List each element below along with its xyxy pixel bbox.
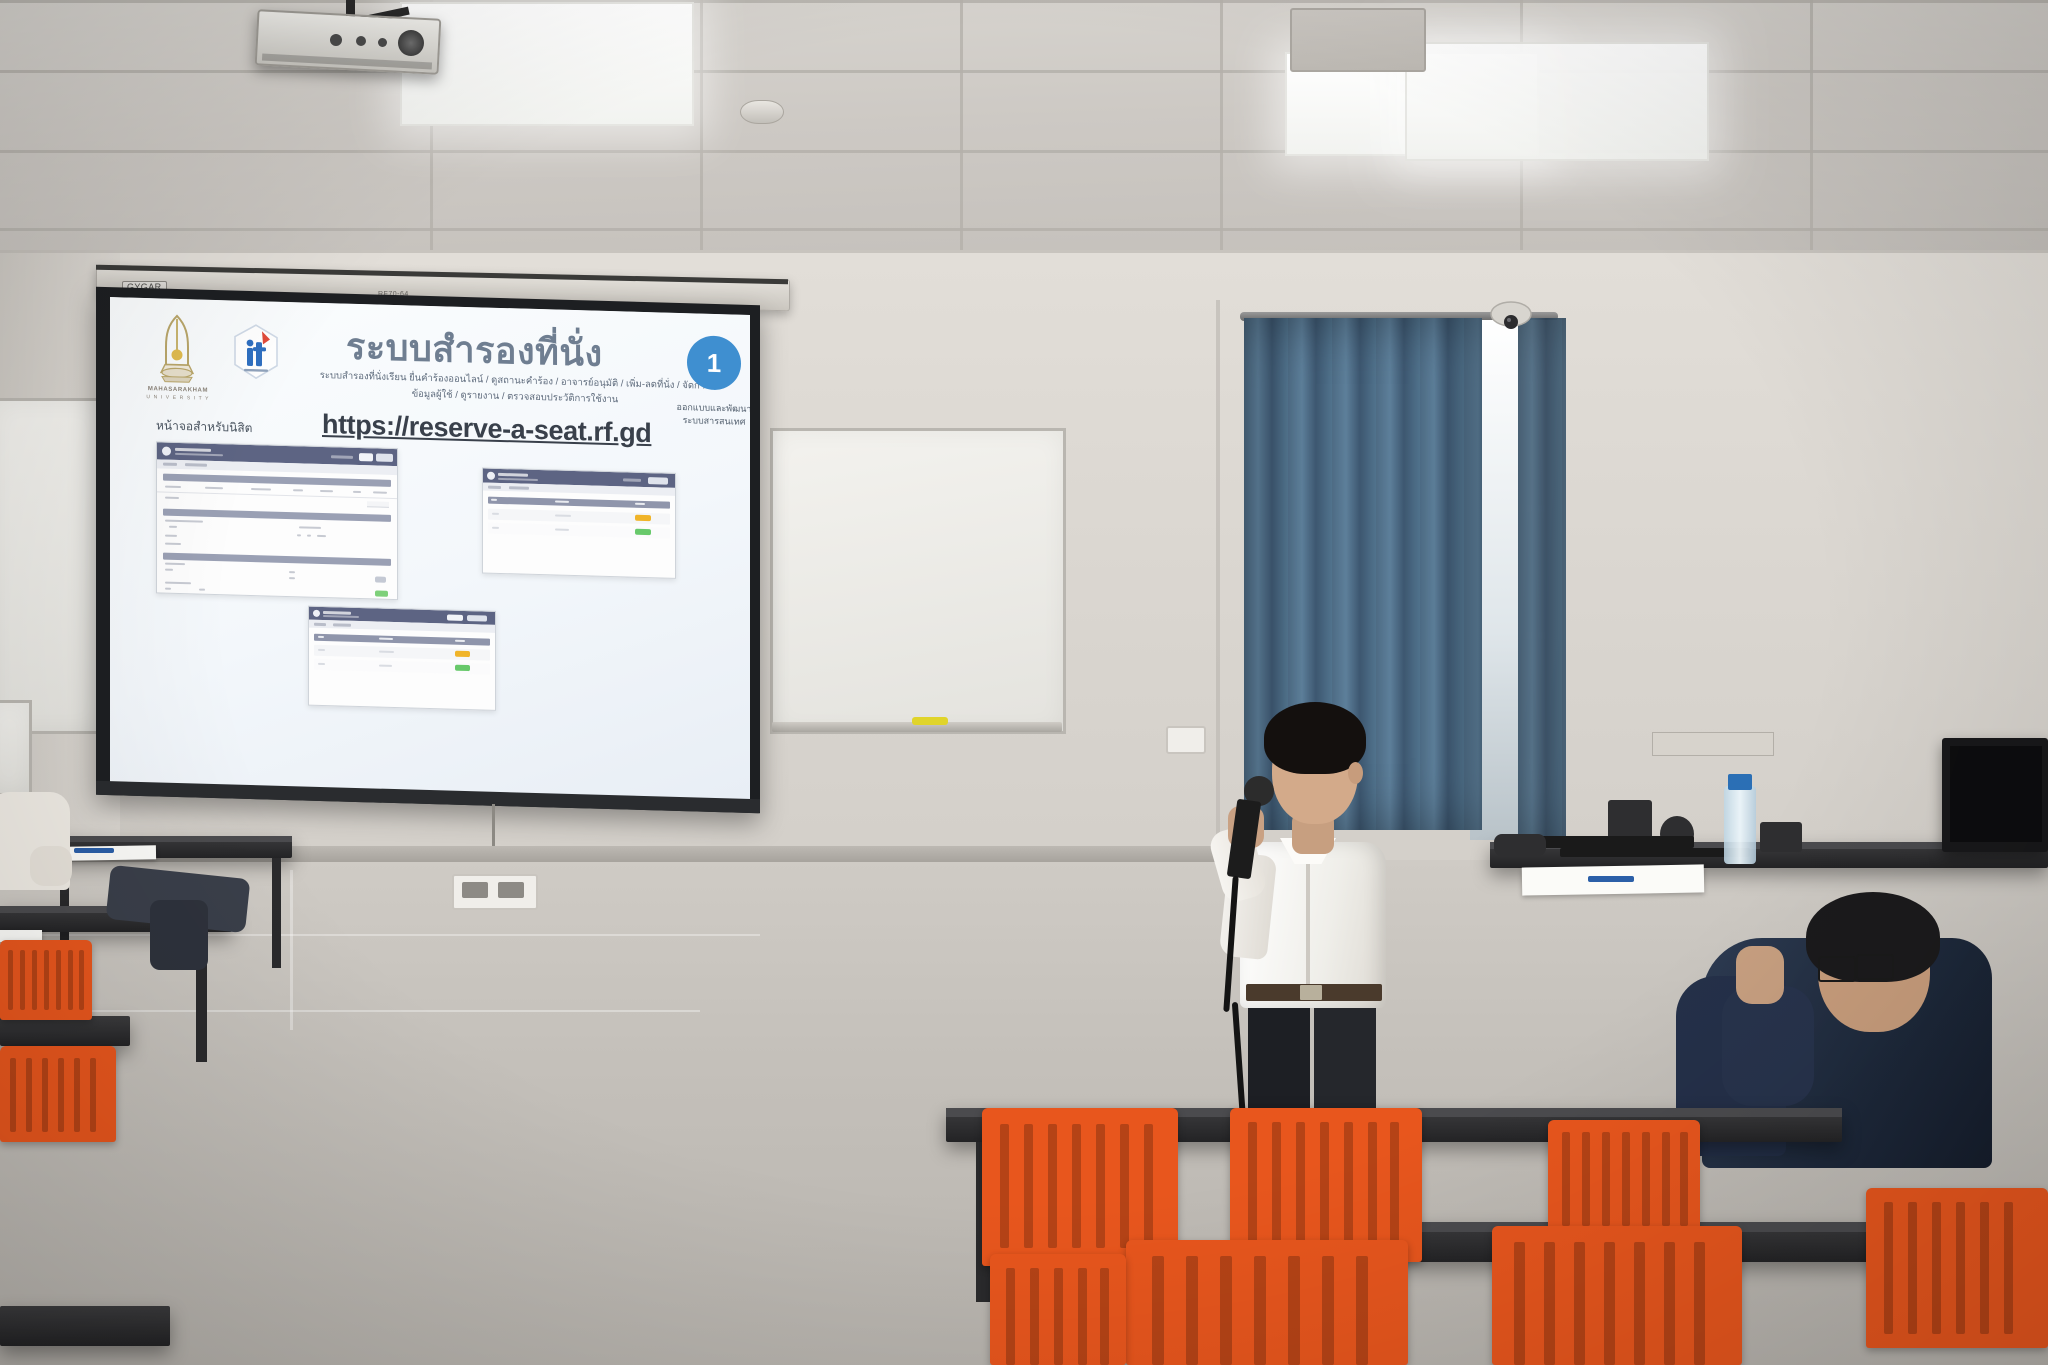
mock-field-label <box>307 535 311 537</box>
ceiling-grid-line <box>0 228 2048 231</box>
mock-section-header <box>163 553 391 566</box>
mock-field-label <box>169 526 177 528</box>
mock-table-cell <box>318 649 325 651</box>
chair-slot <box>1622 1132 1630 1226</box>
mock-field-label <box>165 582 191 585</box>
mock-app-logo-icon <box>487 472 495 480</box>
chair-slot <box>32 950 37 1010</box>
chair-slot <box>1186 1256 1198 1365</box>
mock-field-label <box>320 490 333 492</box>
wall-switch-plate[interactable] <box>1166 726 1206 754</box>
chair-slot <box>68 950 73 1010</box>
chair-slot <box>1544 1242 1555 1365</box>
projection-screen-surface: MAHASARAKHAM U N I V E R S I T Y ระบบสำร… <box>110 297 750 801</box>
chair-slot <box>1908 1202 1917 1334</box>
presenter-shirt-placket <box>1306 846 1310 996</box>
chair-slot <box>1514 1242 1525 1365</box>
ceiling-grid-line <box>0 150 2048 153</box>
bottle-body <box>1724 786 1756 864</box>
mock-table-header-cell <box>635 503 645 505</box>
chair-slot <box>42 1058 48 1132</box>
chair-slot <box>74 1058 80 1132</box>
ceiling-light-panel <box>400 2 694 126</box>
chair-slot <box>1054 1268 1063 1365</box>
whiteboard-far-left <box>0 700 32 796</box>
wall-sign <box>1652 732 1774 756</box>
chair-slot <box>8 950 13 1010</box>
chair-slot <box>1072 1124 1081 1248</box>
chair-slot <box>1144 1124 1153 1248</box>
chair-slot <box>1680 1132 1688 1226</box>
mock-table-header-cell <box>491 499 497 501</box>
mock-field-label <box>199 589 205 591</box>
chair-slot <box>79 950 84 1010</box>
table-edge <box>52 836 292 842</box>
mock-logout-button[interactable] <box>376 453 393 461</box>
mock-field-label <box>165 563 185 566</box>
it-faculty-logo-icon <box>232 322 280 381</box>
smoke-detector <box>740 100 784 124</box>
university-emblem-icon <box>152 312 202 385</box>
chair-slot <box>1602 1132 1610 1226</box>
chair-slot <box>1662 1132 1670 1226</box>
desk-cables <box>1560 848 1750 857</box>
attendee-right-eyeglasses <box>1856 954 1894 980</box>
chair-slot <box>26 1058 32 1132</box>
chair-slot <box>1096 1124 1105 1248</box>
mock-field-label <box>373 491 387 493</box>
mock-field-label <box>317 535 326 537</box>
mock-table-cell <box>379 665 392 667</box>
mock-nav-item[interactable] <box>314 623 326 626</box>
wall-seam <box>0 250 2048 253</box>
bottle-cap <box>1728 774 1752 790</box>
chair-slot <box>1254 1256 1266 1365</box>
chair-slot <box>20 950 25 1010</box>
mock-table-cell <box>555 514 571 516</box>
mock-nav-item[interactable] <box>509 486 529 490</box>
mock-user-name <box>623 478 641 482</box>
ceiling-grid-line <box>1220 0 1223 250</box>
mock-user-name <box>331 455 353 459</box>
chair-slot <box>1320 1122 1329 1244</box>
chair-slot <box>1296 1122 1305 1244</box>
mock-field-label <box>165 497 179 499</box>
mock-input-field[interactable] <box>367 501 389 508</box>
pen-right <box>1588 876 1634 882</box>
chair-slot <box>10 1058 16 1132</box>
projector-knob <box>330 34 342 46</box>
attendee-left-leg <box>150 900 208 970</box>
chair-slot <box>1344 1122 1353 1244</box>
chair-slot <box>1980 1202 1989 1334</box>
pen <box>74 848 114 853</box>
mock-nav-item[interactable] <box>185 463 207 467</box>
mock-logout-button[interactable] <box>467 615 487 622</box>
chair-slot <box>1322 1256 1334 1365</box>
chair-slot <box>1604 1242 1615 1365</box>
mock-section-header <box>163 474 391 487</box>
mock-submit-button[interactable] <box>375 590 388 596</box>
chair-slot <box>1288 1256 1300 1365</box>
mock-app-logo-icon <box>313 610 320 617</box>
chair-slot <box>1368 1122 1377 1244</box>
presenter-belt-buckle <box>1300 985 1322 1000</box>
chair-slot <box>1048 1124 1057 1248</box>
monitor-screen <box>1950 746 2042 842</box>
chair-slot <box>2004 1202 2013 1334</box>
mock-status-badge-pending <box>635 515 651 521</box>
ceiling-grid-line <box>1810 0 1813 250</box>
table-leg <box>272 858 281 968</box>
whiteboard-left <box>0 398 106 734</box>
chair-slot <box>1120 1124 1129 1248</box>
mock-status-badge-approved <box>635 529 651 535</box>
floor-tile-line <box>0 934 760 936</box>
mock-field-label <box>251 488 271 491</box>
mock-table-header-cell <box>379 638 393 640</box>
window-curtain-right <box>1518 318 1566 838</box>
chair-slot <box>1582 1132 1590 1226</box>
mock-field-label <box>165 520 203 523</box>
table-left-bottom <box>0 1306 170 1346</box>
mock-field-label <box>165 588 171 590</box>
chair-slot <box>1956 1202 1965 1334</box>
mock-field-label <box>165 569 173 571</box>
ac-vent <box>1290 8 1426 72</box>
wall-seam <box>1216 300 1220 860</box>
chair-slot <box>1356 1256 1368 1365</box>
chair-slot <box>1642 1132 1650 1226</box>
floor-tile-line <box>0 1010 700 1012</box>
slide-step-badge: 1 <box>687 335 741 391</box>
university-name-line2: U N I V E R S I T Y <box>134 394 222 403</box>
chair-slot <box>58 1058 64 1132</box>
chair-slot <box>1100 1268 1109 1365</box>
chair-slot <box>1932 1202 1941 1334</box>
attendee-left-arm <box>30 846 72 886</box>
projector-knob <box>356 36 366 46</box>
chair-slot <box>1248 1122 1257 1244</box>
desk-device <box>1760 822 1802 852</box>
mock-table-cell <box>492 513 499 515</box>
attendee-right-arm <box>1722 986 1814 1106</box>
mock-status-badge-pending <box>455 651 470 657</box>
mock-app-logo-icon <box>162 447 171 456</box>
outlet-socket <box>498 882 524 898</box>
slide-mock-student-request-form <box>156 441 398 600</box>
mock-field-label <box>165 535 177 537</box>
slide-mock-request-history-list <box>308 606 496 711</box>
mock-field-label <box>165 543 181 545</box>
mock-table-header-cell <box>318 636 324 638</box>
mock-field-label <box>289 571 295 573</box>
chair-slot <box>1390 1122 1399 1244</box>
chair-slot <box>1078 1268 1087 1365</box>
desk-cables <box>1534 836 1694 848</box>
mock-nav-item[interactable] <box>333 623 351 627</box>
table-left-foreground <box>0 1016 130 1046</box>
ceiling-grid-line <box>700 0 703 250</box>
mock-nav-item[interactable] <box>163 463 177 466</box>
chair-slot <box>90 1058 96 1132</box>
mock-action-button[interactable] <box>375 576 386 582</box>
chair-slot <box>1272 1122 1281 1244</box>
outlet-socket <box>462 882 488 898</box>
chair-slot <box>1006 1268 1015 1365</box>
chair-slot <box>1694 1242 1705 1365</box>
mock-field-label <box>293 489 303 491</box>
mock-table-cell <box>318 663 325 665</box>
mock-table-cell <box>492 527 499 529</box>
ceiling-light-panel <box>1405 42 1709 161</box>
mock-table-header-cell <box>455 640 465 642</box>
slide-mock-request-status-list <box>482 467 676 578</box>
mock-table-cell <box>555 528 569 530</box>
desk-phone-stand <box>1494 834 1546 856</box>
mock-field-label <box>205 487 223 490</box>
mock-table-cell <box>379 651 394 653</box>
mock-field-label <box>289 577 295 579</box>
ceiling-grid-line <box>0 70 2048 73</box>
chair-slot <box>1024 1124 1033 1248</box>
floor-tile-line <box>290 870 293 1030</box>
chair-slot <box>1574 1242 1585 1365</box>
mock-topbar-button[interactable] <box>447 614 463 620</box>
mock-status-badge-approved <box>455 665 470 671</box>
chair-slot <box>1030 1268 1039 1365</box>
presenter-ear <box>1348 762 1363 784</box>
attendee-right-eyeglasses <box>1818 956 1856 982</box>
whiteboard-right <box>770 428 1066 734</box>
mock-logout-button[interactable] <box>648 477 668 485</box>
mock-table-header-cell <box>555 500 569 502</box>
attendee-right-hand <box>1736 946 1784 1004</box>
mock-nav-item[interactable] <box>488 486 501 489</box>
chair-slot <box>1634 1242 1645 1365</box>
mock-field-label <box>353 491 361 493</box>
ceiling-grid-line <box>960 0 963 250</box>
chair-slot <box>1562 1132 1570 1226</box>
whiteboard-marker <box>912 717 948 725</box>
presentation-slide: MAHASARAKHAM U N I V E R S I T Y ระบบสำร… <box>110 297 750 801</box>
chair-slot <box>1664 1242 1675 1365</box>
slide-student-screen-caption: หน้าจอสำหรับนิสิต <box>156 416 252 438</box>
chair-slot <box>56 950 61 1010</box>
mock-field-label <box>299 526 321 529</box>
chair-slot <box>44 950 49 1010</box>
chair-slot <box>1884 1202 1893 1334</box>
mock-field-label <box>297 534 301 536</box>
cctv-camera-icon <box>1488 300 1534 334</box>
projector-lens <box>398 30 424 56</box>
slide-badge-caption-line-2: ระบบสารสนเทศ <box>654 413 750 429</box>
classroom-photo-scene: GYGAR RF70-64 MAHASARAKHAM U N I V E R S… <box>0 0 2048 1365</box>
projector-knob <box>378 38 387 47</box>
mock-topbar-button[interactable] <box>359 453 373 461</box>
slide-url-link[interactable]: https://reserve-a-seat.rf.gd <box>322 409 651 449</box>
ceiling-grid-line <box>0 0 2048 3</box>
mock-divider <box>157 491 397 499</box>
chair-slot <box>1000 1124 1009 1248</box>
chair-slot <box>1152 1256 1164 1365</box>
chair-slot <box>1220 1256 1232 1365</box>
mock-field-label <box>165 486 181 488</box>
